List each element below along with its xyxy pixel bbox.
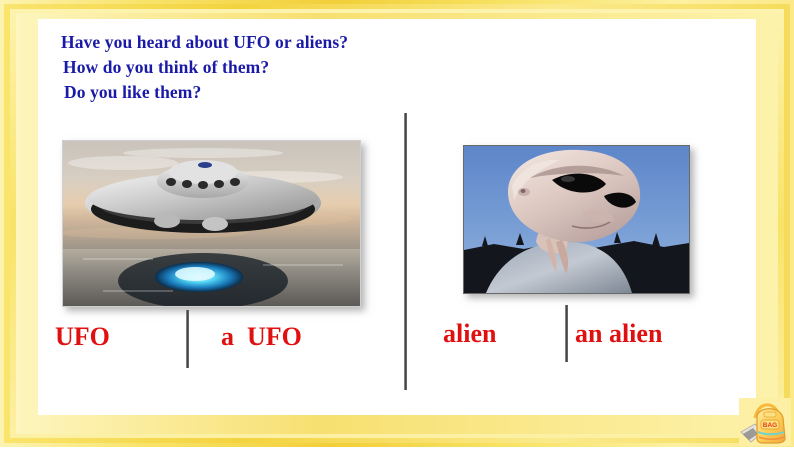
alien-photo: [463, 145, 690, 294]
slide-content-area: Have you heard about UFO or aliens? How …: [38, 19, 756, 415]
alien-word-divider: [565, 305, 568, 362]
question-line-3: Do you like them?: [61, 80, 621, 105]
label-ufo: UFO: [55, 322, 110, 352]
question-line-2: How do you think of them?: [61, 55, 621, 80]
label-alien: alien: [443, 319, 496, 349]
ufo-photo: [62, 140, 361, 307]
question-line-1: Have you heard about UFO or aliens?: [61, 30, 621, 55]
label-an-alien: an alien: [575, 319, 662, 349]
label-a-ufo: a UFO: [221, 322, 302, 352]
question-block: Have you heard about UFO or aliens? How …: [61, 30, 621, 105]
panel-divider: [404, 113, 407, 390]
ufo-illustration: [63, 141, 360, 306]
slide-canvas: Have you heard about UFO or aliens? How …: [0, 0, 794, 447]
backpack-icon: BAG: [739, 398, 791, 446]
backpack-graphic: BAG: [739, 398, 791, 446]
backpack-label: BAG: [763, 422, 777, 429]
alien-illustration: [464, 146, 689, 293]
ufo-word-divider: [186, 310, 189, 368]
